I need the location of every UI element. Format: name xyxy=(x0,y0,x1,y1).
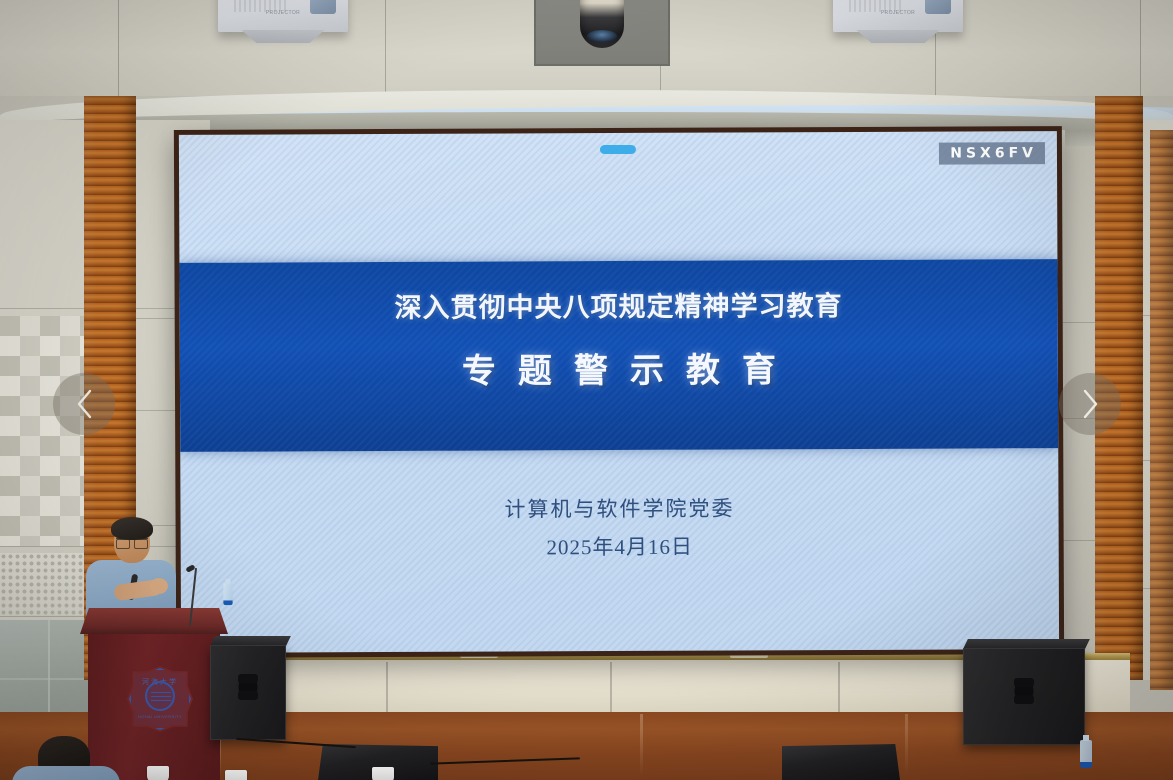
projector-status-indicator xyxy=(600,145,636,154)
ceiling-projector-left: PROJECTOR xyxy=(218,0,348,32)
emblem-english-name: HOHAI UNIVERSITY xyxy=(127,714,193,719)
ceiling-dome-camera xyxy=(580,0,624,48)
floor-monitor-center xyxy=(782,744,900,780)
presenter-hair xyxy=(111,517,153,540)
projection-screen-frame: NSX6FV 深入贯彻中央八项规定精神学习教育 专题警示教育 计算机与软件学院党… xyxy=(174,126,1064,658)
ceiling-projector-right: PROJECTOR xyxy=(833,0,963,32)
teacup-3 xyxy=(372,767,394,780)
audience-shoulders xyxy=(12,766,120,780)
slide-date: 2025年4月16日 xyxy=(181,529,1059,563)
water-bottle-podium xyxy=(223,583,233,605)
panel-tag: PROJECTOR xyxy=(881,10,915,16)
next-button[interactable] xyxy=(1059,373,1121,435)
lecture-hall-photo: PROJECTOR PROJECTOR xyxy=(0,0,1173,780)
emblem-center-motif xyxy=(145,681,175,711)
glasses-icon xyxy=(116,538,148,546)
ceiling-dome-camera-housing xyxy=(534,0,670,66)
wood-slat-column-far-right xyxy=(1150,130,1173,690)
chevron-right-icon xyxy=(1080,388,1100,420)
ceiling: PROJECTOR PROJECTOR xyxy=(0,0,1173,96)
projection-screen: NSX6FV 深入贯彻中央八项规定精神学习教育 专题警示教育 计算机与软件学院党… xyxy=(179,131,1059,653)
slide-subtitle: 专题警示教育 xyxy=(180,341,1058,394)
slide-organization: 计算机与软件学院党委 xyxy=(180,491,1058,525)
presenter-hand xyxy=(150,578,168,594)
teacup-2 xyxy=(225,770,247,780)
speaker-handle-icon xyxy=(236,672,260,702)
panel-tag: PROJECTOR xyxy=(266,10,300,16)
projector-lens-icon xyxy=(310,0,336,14)
stage-speaker-right xyxy=(963,648,1085,745)
projector-lens-icon xyxy=(925,0,951,14)
slide-title: 深入贯彻中央八项规定精神学习教育 xyxy=(180,283,1058,326)
prev-button[interactable] xyxy=(53,373,115,435)
teacup-1 xyxy=(147,766,169,780)
slide-title-band: 深入贯彻中央八项规定精神学习教育 专题警示教育 xyxy=(179,259,1058,452)
podium-desktop xyxy=(80,608,228,634)
speaker-handle-icon xyxy=(1012,676,1036,706)
stage-speaker-left xyxy=(210,645,286,740)
water-bottle-floor xyxy=(1080,740,1092,768)
projector-watermark: NSX6FV xyxy=(939,142,1045,164)
chevron-left-icon xyxy=(74,388,94,420)
university-emblem: 河海大学 HOHAI UNIVERSITY xyxy=(127,666,193,732)
